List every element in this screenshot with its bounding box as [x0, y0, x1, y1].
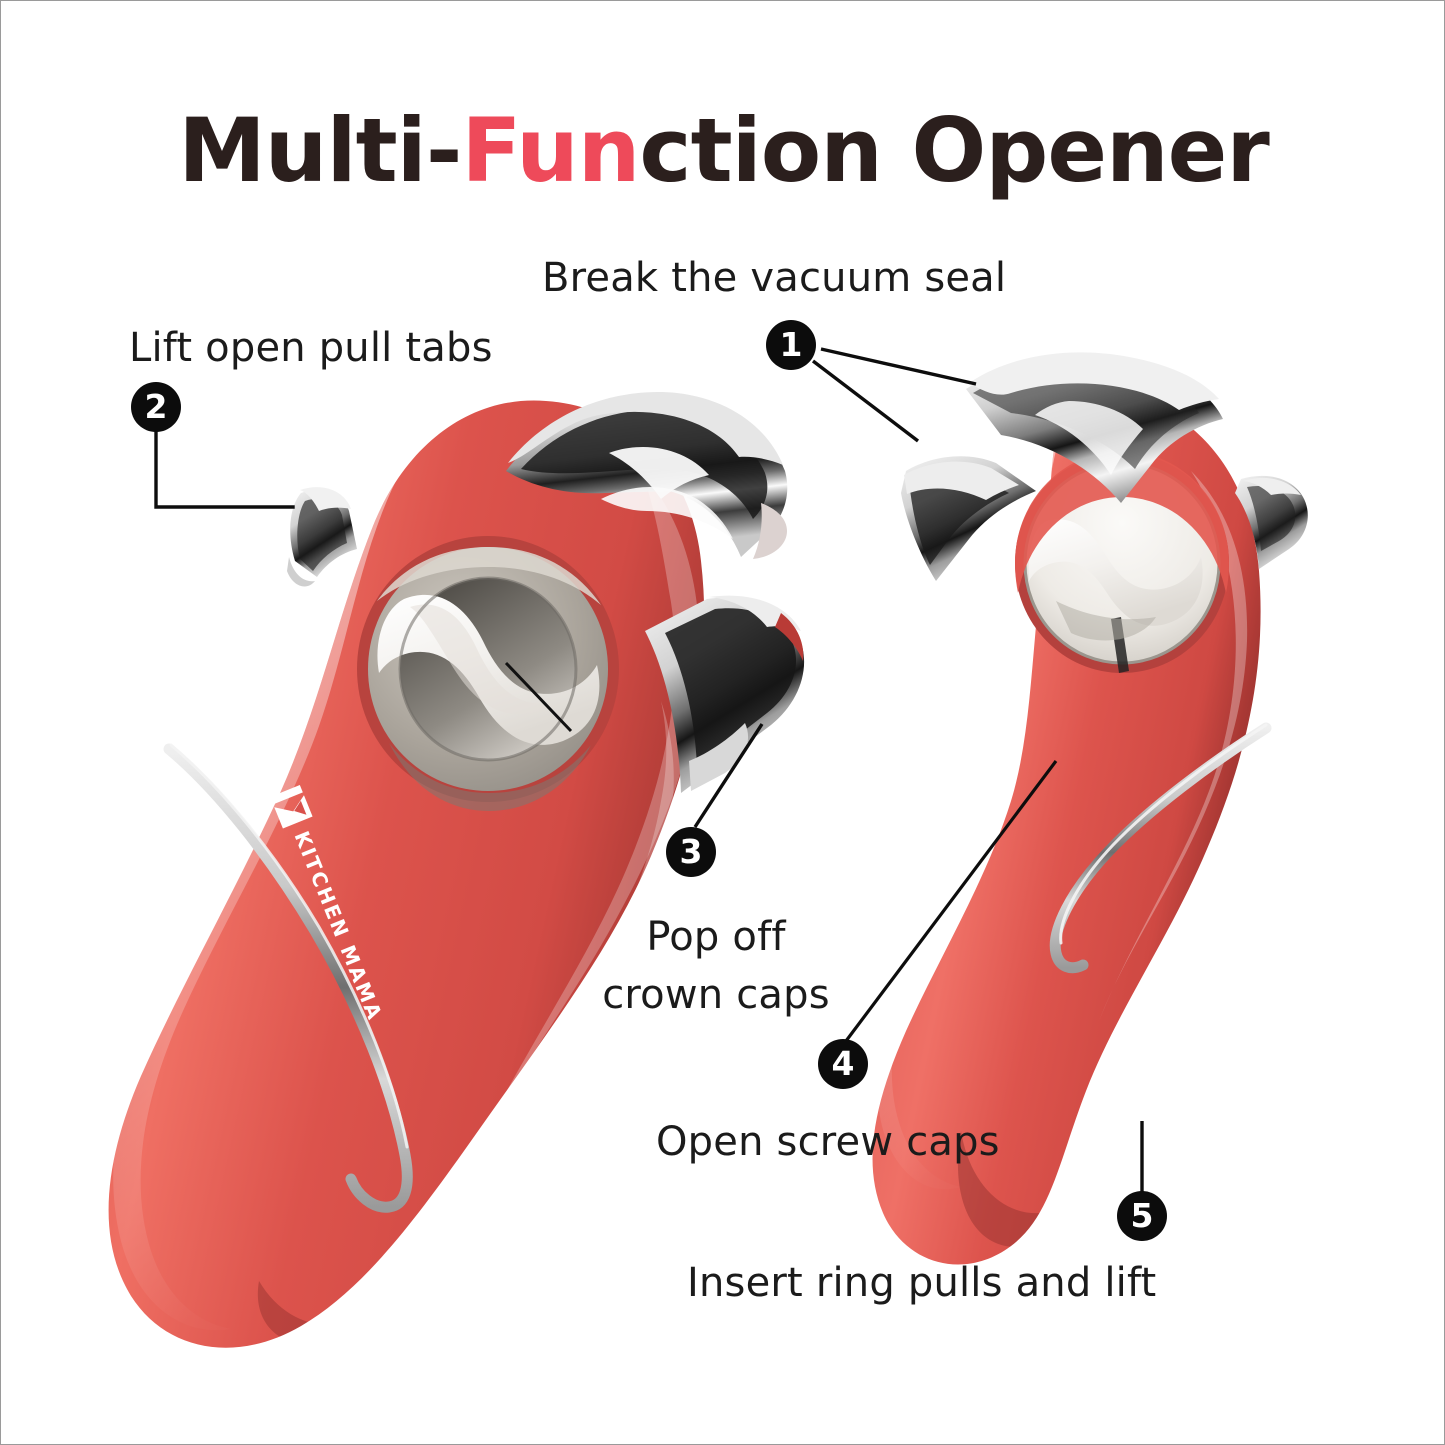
- callout-label-5: Insert ring pulls and lift: [687, 1254, 1156, 1312]
- callout-label-1: Break the vacuum seal: [542, 249, 1006, 307]
- infographic-canvas: KITCHEN MAMA Multi-Function Opener Break…: [0, 0, 1445, 1445]
- product-illustration: KITCHEN MAMA: [1, 1, 1445, 1445]
- chrome-prong-pulltab-left: [287, 487, 357, 586]
- title-part-2: ction Opener: [639, 99, 1268, 202]
- callout-badge-3: 3: [666, 827, 716, 877]
- page-title: Multi-Function Opener: [1, 107, 1445, 195]
- title-part-1: Multi-: [178, 99, 461, 202]
- callout-label-4: Open screw caps: [656, 1113, 1000, 1171]
- callout-badge-5: 5: [1117, 1191, 1167, 1241]
- callout-badge-4: 4: [818, 1039, 868, 1089]
- handle-body-left: [109, 401, 705, 1348]
- callout-badge-1: 1: [766, 320, 816, 370]
- callout-label-3: Pop off crown caps: [561, 908, 871, 1024]
- callout-label-2: Lift open pull tabs: [129, 319, 493, 377]
- callout-badge-2: 2: [131, 382, 181, 432]
- title-accent: Fun: [461, 99, 639, 202]
